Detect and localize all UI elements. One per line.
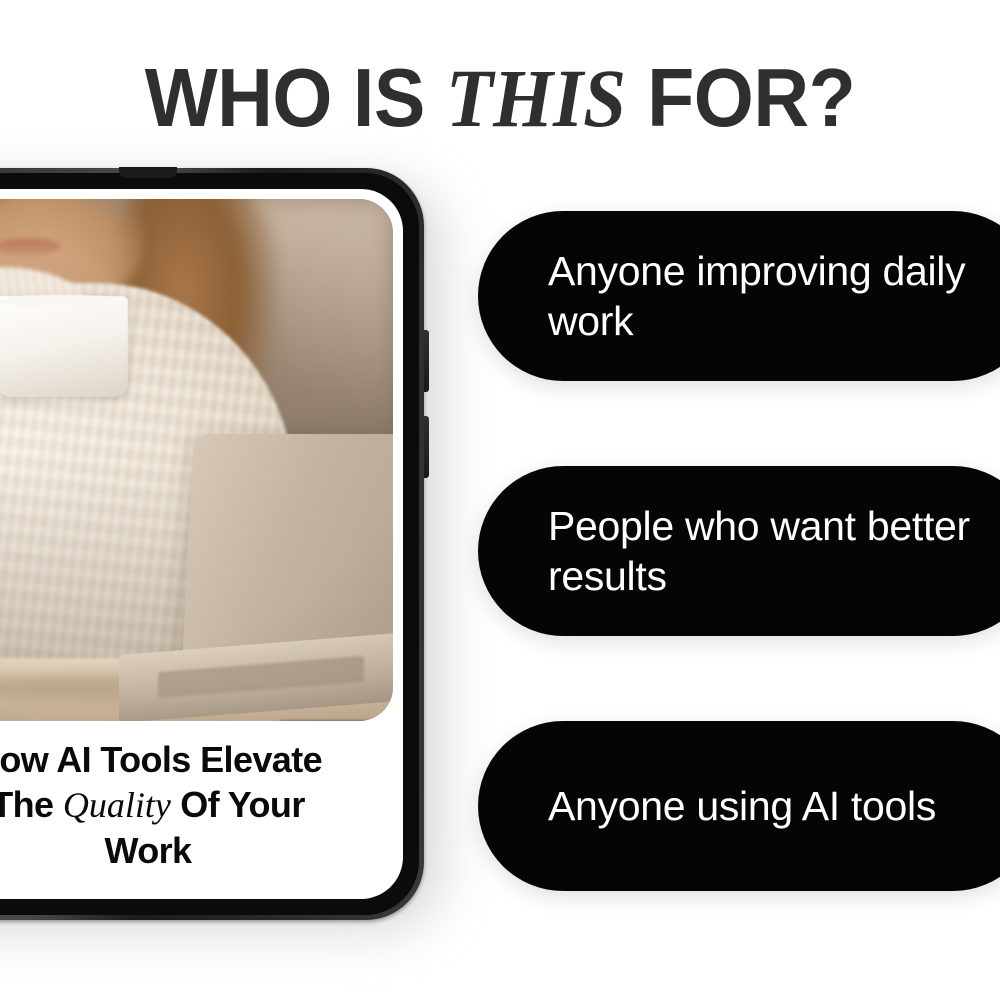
phone-caption-line-2: The Quality Of Your [0, 782, 389, 828]
hero-photo-art [0, 199, 393, 721]
page-title-emphasis: THIS [446, 52, 626, 144]
phone-earpiece-notch [119, 167, 177, 178]
slide-canvas: WHO IS THIS FOR? [0, 0, 1000, 1000]
benefit-pill-1[interactable]: Anyone improving daily work [478, 211, 1000, 381]
phone-mockup: How AI Tools Elevate The Quality Of Your… [0, 168, 432, 924]
phone-caption-line-3: Work [0, 828, 389, 873]
phone-screen: How AI Tools Elevate The Quality Of Your… [0, 189, 403, 899]
phone-frame: How AI Tools Elevate The Quality Of Your… [0, 168, 424, 920]
benefit-pill-2[interactable]: People who want better results [478, 466, 1000, 636]
phone-caption-emphasis: Quality [63, 785, 171, 825]
page-title: WHO IS THIS FOR? [35, 52, 965, 144]
phone-caption: How AI Tools Elevate The Quality Of Your… [0, 737, 389, 873]
benefit-pill-1-label: Anyone improving daily work [478, 246, 1000, 346]
benefit-pill-2-label: People who want better results [478, 501, 1000, 601]
photo-vignette [0, 199, 393, 721]
phone-caption-line-2-pre: The [0, 784, 63, 825]
benefit-pill-3-label: Anyone using AI tools [478, 781, 966, 831]
page-title-part-1: WHO IS [145, 51, 446, 144]
benefit-pill-3[interactable]: Anyone using AI tools [478, 721, 1000, 891]
phone-caption-line-2-post: Of Your [171, 784, 305, 825]
page-title-part-2: FOR? [626, 51, 855, 144]
hero-photo [0, 199, 393, 721]
phone-volume-up-button[interactable] [424, 330, 429, 392]
phone-caption-line-1: How AI Tools Elevate [0, 737, 389, 782]
phone-volume-down-button[interactable] [424, 416, 429, 478]
phone-bezel: How AI Tools Elevate The Quality Of Your… [0, 173, 419, 915]
